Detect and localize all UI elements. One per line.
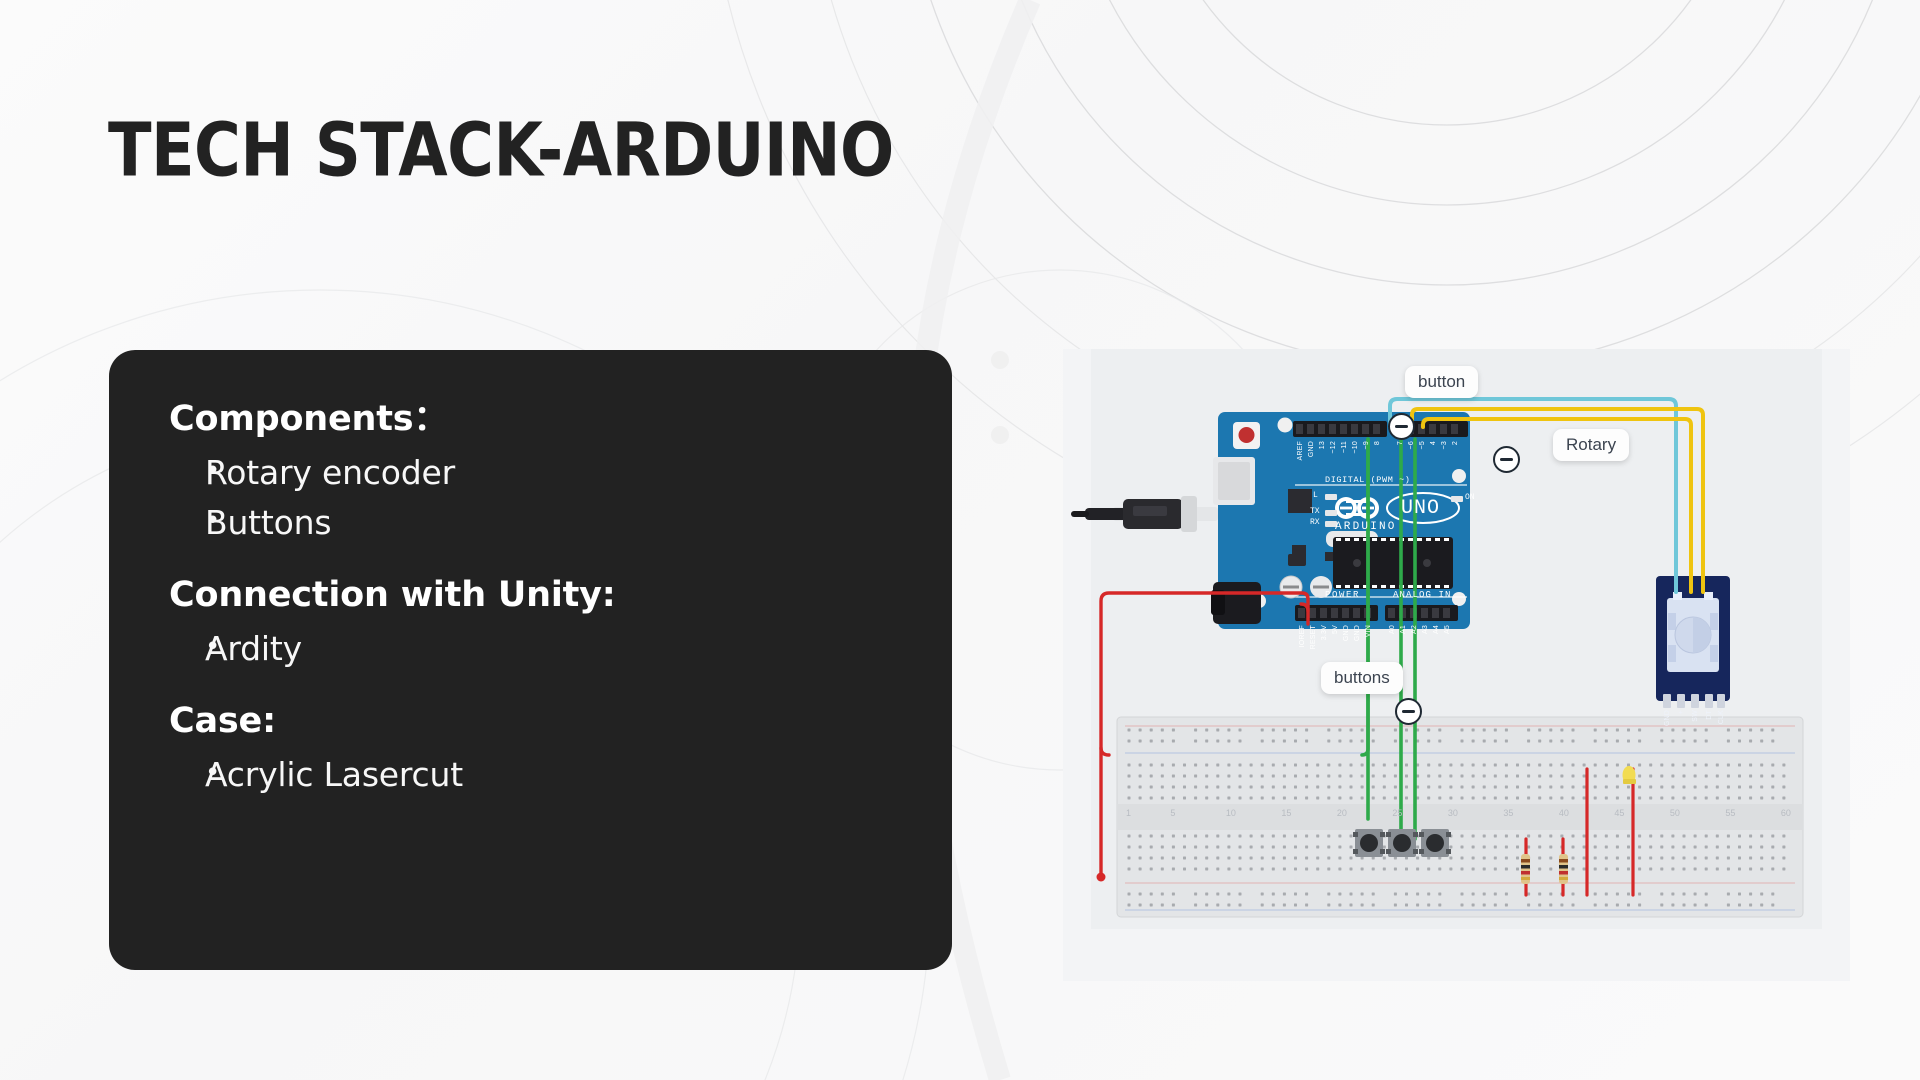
- power-on-label: ON: [1465, 493, 1475, 502]
- breadboard: [1117, 717, 1803, 917]
- group-heading: Components：: [169, 398, 952, 442]
- list-item-label: Buttons: [205, 498, 331, 548]
- label-button[interactable]: button: [1405, 366, 1478, 398]
- analog-header-label: ANALOG IN: [1393, 590, 1452, 600]
- group-components: Components： Rotary encoder Buttons: [169, 398, 952, 548]
- breadboard-scale-number: 40: [1559, 808, 1569, 818]
- digital-header-label: DIGITAL (PWM ~): [1325, 475, 1411, 485]
- group-list: Rotary encoder Buttons: [169, 448, 952, 548]
- list-item: Ardity: [169, 624, 952, 674]
- label-rotary[interactable]: Rotary: [1553, 429, 1629, 461]
- breadboard-scale-number: 45: [1614, 808, 1624, 818]
- group-list: Ardity: [169, 624, 952, 674]
- bullet-icon: [169, 508, 205, 534]
- analog-pin-label: A2: [1411, 625, 1418, 634]
- analog-pin-label: A1: [1400, 625, 1407, 634]
- power-pin-label: GND: [1354, 625, 1361, 641]
- rotary-pin-label: DT: [1706, 710, 1713, 720]
- rotary-pin-label: GND: [1664, 710, 1671, 726]
- label-buttons[interactable]: buttons: [1321, 662, 1403, 694]
- list-item: Buttons: [169, 498, 952, 548]
- circuit-diagram: AREF GND 13 ~12 ~11 ~10 ~9 8 7 ~6 ~5 4 ~…: [1063, 349, 1850, 981]
- breadboard-scale-number: 35: [1503, 808, 1513, 818]
- page-title: TECH STACK-ARDUINO: [108, 108, 894, 194]
- board-model-label: UNO: [1401, 497, 1440, 520]
- rotary-pin-label: CLK: [1718, 710, 1725, 724]
- analog-pin-label: A5: [1444, 625, 1451, 634]
- led-label-tx: TX: [1310, 507, 1320, 516]
- rotary-encoder-module: [1656, 576, 1730, 708]
- power-pin-label: 5V: [1332, 625, 1339, 634]
- list-item-label: Acrylic Lasercut: [205, 750, 463, 800]
- breadboard-scale-number: 1: [1126, 808, 1131, 818]
- analog-pin-label: A0: [1389, 625, 1396, 634]
- power-pin-label: IOREF: [1299, 625, 1306, 647]
- analog-pin-label: A3: [1422, 625, 1429, 634]
- bullet-icon: [169, 458, 205, 484]
- breadboard-scale-number: 55: [1725, 808, 1735, 818]
- group-connection: Connection with Unity: Ardity: [169, 574, 952, 674]
- breadboard-scale-number: 25: [1392, 808, 1402, 818]
- breadboard-scale-number: 50: [1670, 808, 1680, 818]
- breadboard-scale-number: 20: [1337, 808, 1347, 818]
- rotary-pin-label: SW: [1692, 710, 1699, 722]
- breadboard-scale-number: 5: [1170, 808, 1175, 818]
- board-brand-label: ARDUINO: [1335, 521, 1397, 533]
- breadboard-scale-number: 30: [1448, 808, 1458, 818]
- list-item: Acrylic Lasercut: [169, 750, 952, 800]
- collapse-badge-button[interactable]: [1388, 413, 1415, 440]
- group-heading: Connection with Unity:: [169, 574, 952, 618]
- power-header-label: POWER: [1325, 590, 1360, 600]
- power-pin-label: VIN: [1365, 625, 1372, 637]
- push-buttons: [1353, 829, 1451, 857]
- group-list: Acrylic Lasercut: [169, 750, 952, 800]
- list-item-label: Rotary encoder: [205, 448, 455, 498]
- collapse-badge-rotary[interactable]: [1493, 446, 1520, 473]
- led-label-rx: RX: [1310, 518, 1320, 527]
- power-pin-label: RESET: [1310, 625, 1317, 649]
- tech-stack-card: Components： Rotary encoder Buttons Conne…: [109, 350, 952, 970]
- group-case: Case: Acrylic Lasercut: [169, 700, 952, 800]
- slide-canvas: TECH STACK-ARDUINO Components： Rotary en…: [0, 0, 1920, 1080]
- breadboard-scale-number: 10: [1226, 808, 1236, 818]
- bullet-icon: [169, 634, 205, 660]
- breadboard-scale-number: 15: [1281, 808, 1291, 818]
- power-pin-label: 3.3V: [1321, 625, 1328, 640]
- analog-pin-label: A4: [1433, 625, 1440, 634]
- list-item: Rotary encoder: [169, 448, 952, 498]
- rotary-pin-label: +: [1678, 710, 1685, 714]
- collapse-badge-buttons[interactable]: [1395, 698, 1422, 725]
- breadboard-scale-number: 60: [1781, 808, 1791, 818]
- bullet-icon: [169, 760, 205, 786]
- led-label-l: L: [1313, 491, 1318, 500]
- group-heading: Case:: [169, 700, 952, 744]
- power-pin-label: GND: [1343, 625, 1350, 641]
